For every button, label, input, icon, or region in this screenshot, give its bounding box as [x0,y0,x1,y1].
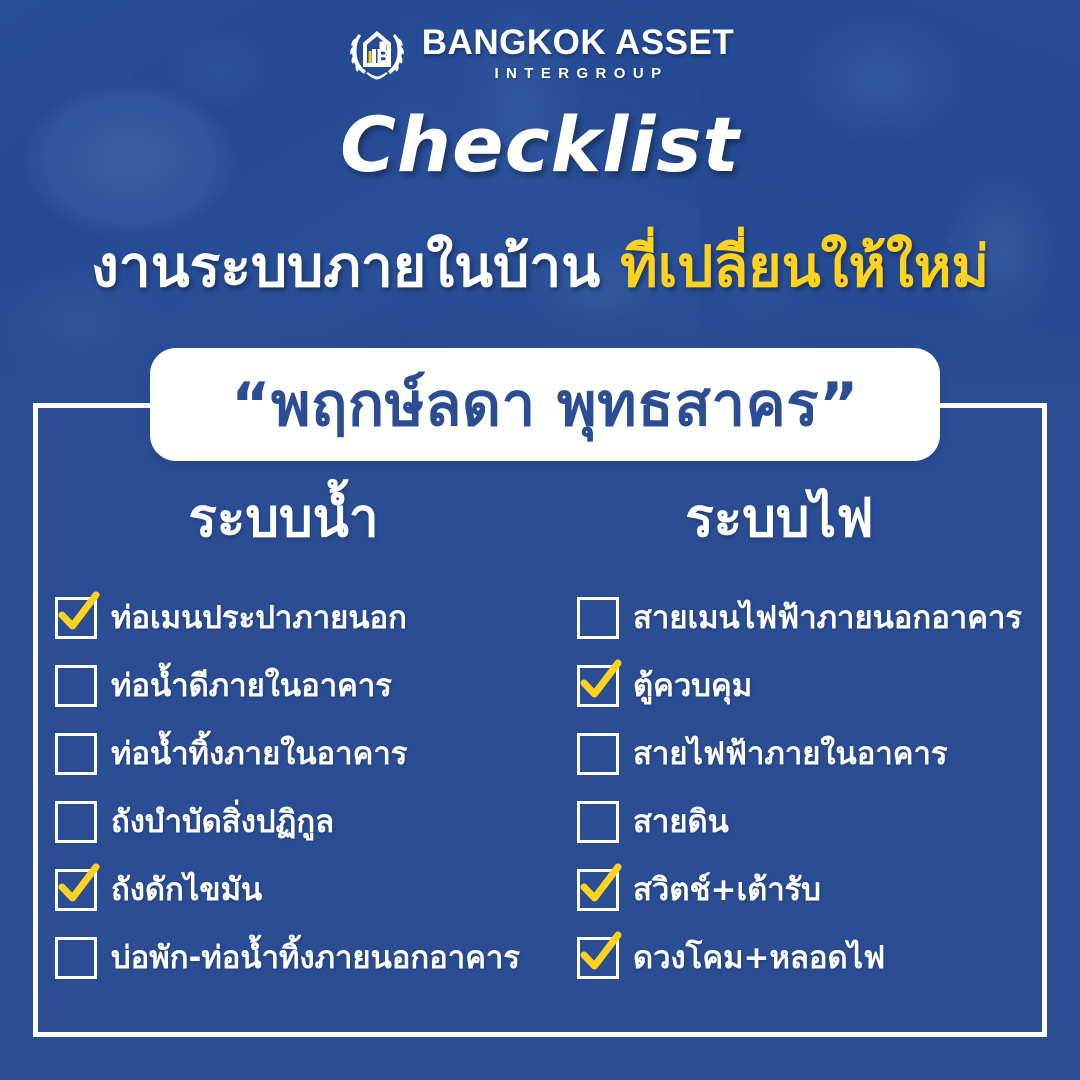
page-subtitle: งานระบบภายในบ้าน ที่เปลี่ยนให้ใหม่ [0,222,1080,312]
checklist-item-label: ตู้ควบคุม [633,671,752,702]
column-heading-electric: ระบบไฟ [540,492,1047,545]
checklist-item-label: ท่อเมนประปาภายนอก [111,603,407,634]
checklist-items-electric: สายเมนไฟฟ้าภายนอกอาคารตู้ควบคุมสายไฟฟ้าภ… [540,597,1047,979]
checklist-item[interactable]: ท่อเมนประปาภายนอก [55,597,540,639]
checkbox-unchecked-icon[interactable] [55,937,97,979]
checklist-item[interactable]: ถังดักไขมัน [55,869,540,911]
checklist-item-label: สวิตช์+เต้ารับ [633,875,821,906]
project-name: “พฤกษ์ลดา พุทธสาคร” [231,357,859,452]
checkbox-checked-icon[interactable] [55,869,97,911]
checklist-item[interactable]: สวิตช์+เต้ารับ [577,869,1047,911]
brand-subtitle: INTERGROUP [487,66,668,81]
checklist-item-label: ถังดักไขมัน [111,875,262,906]
checkbox-checked-icon[interactable] [577,665,619,707]
checklist-column-water: ระบบน้ำ ท่อเมนประปาภายนอกท่อน้ำดีภายในอา… [33,470,540,1030]
checkbox-unchecked-icon[interactable] [55,733,97,775]
checklist-columns: ระบบน้ำ ท่อเมนประปาภายนอกท่อน้ำดีภายในอา… [33,470,1047,1030]
brand-logo-text: BANGKOK ASSET INTERGROUP [422,25,734,81]
checklist-item-label: สายดิน [633,807,729,838]
brand-logo: BANGKOK ASSET INTERGROUP [0,20,1080,86]
checklist-column-electric: ระบบไฟ สายเมนไฟฟ้าภายนอกอาคารตู้ควบคุมสา… [540,470,1047,1030]
checkbox-unchecked-icon[interactable] [55,665,97,707]
checkbox-checked-icon[interactable] [577,869,619,911]
project-name-badge: “พฤกษ์ลดา พุทธสาคร” [150,348,940,461]
checkbox-unchecked-icon[interactable] [55,801,97,843]
checklist-item-label: บ่อพัก-ท่อน้ำทิ้งภายนอกอาคาร [111,943,520,974]
checklist-item[interactable]: สายดิน [577,801,1047,843]
checklist-item[interactable]: สายไฟฟ้าภายในอาคาร [577,733,1047,775]
brand-name: BANGKOK ASSET [422,25,734,60]
checkbox-unchecked-icon[interactable] [577,733,619,775]
checklist-item[interactable]: ท่อน้ำดีภายในอาคาร [55,665,540,707]
checklist-items-water: ท่อเมนประปาภายนอกท่อน้ำดีภายในอาคารท่อน้… [33,597,540,979]
checklist-item-label: สายไฟฟ้าภายในอาคาร [633,739,948,770]
checklist-item[interactable]: สายเมนไฟฟ้าภายนอกอาคาร [577,597,1047,639]
checkbox-checked-icon[interactable] [55,597,97,639]
checklist-item-label: ดวงโคม+หลอดไฟ [633,943,885,974]
checklist-item[interactable]: ดวงโคม+หลอดไฟ [577,937,1047,979]
page-title: Checklist [0,100,1080,189]
page-subtitle-highlight: ที่เปลี่ยนให้ใหม่ [620,234,989,300]
house-laurel-wreath-icon [346,22,408,84]
checklist-item[interactable]: ถังบำบัดสิ่งปฏิกูล [55,801,540,843]
checklist-item-label: ท่อน้ำทิ้งภายในอาคาร [111,739,407,770]
page-subtitle-white: งานระบบภายในบ้าน [91,234,600,300]
checklist-item[interactable]: บ่อพัก-ท่อน้ำทิ้งภายนอกอาคาร [55,937,540,979]
column-heading-water: ระบบน้ำ [33,492,540,545]
checklist-item-label: ท่อน้ำดีภายในอาคาร [111,671,392,702]
checkbox-unchecked-icon[interactable] [577,801,619,843]
checklist-item[interactable]: ท่อน้ำทิ้งภายในอาคาร [55,733,540,775]
checkbox-checked-icon[interactable] [577,937,619,979]
checkbox-unchecked-icon[interactable] [577,597,619,639]
checklist-item[interactable]: ตู้ควบคุม [577,665,1047,707]
checklist-item-label: ถังบำบัดสิ่งปฏิกูล [111,807,334,838]
checklist-item-label: สายเมนไฟฟ้าภายนอกอาคาร [633,603,1022,634]
